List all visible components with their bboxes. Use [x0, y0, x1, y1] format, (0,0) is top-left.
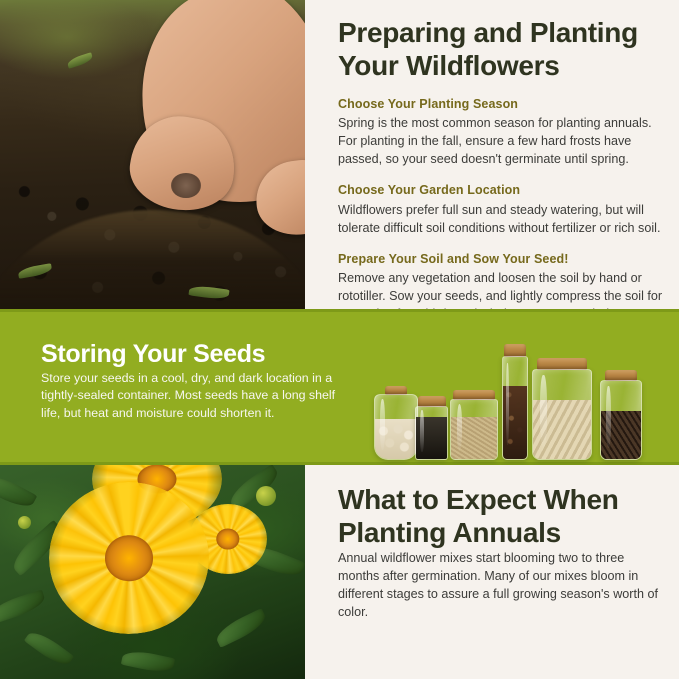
seed-jar [532, 358, 592, 458]
yellow-flower-photo [0, 465, 305, 679]
body-garden-location: Wildflowers prefer full sun and steady w… [338, 201, 664, 237]
storing-text-column: Storing Your Seeds Store your seeds in a… [41, 340, 341, 423]
seed-jars-photo [372, 322, 667, 458]
preparing-title: Preparing and Planting Your Wildflowers [338, 16, 664, 82]
preparing-text-column: Preparing and Planting Your Wildflowers … [338, 0, 664, 309]
jar-highlight [420, 410, 424, 452]
subtitle-planting-season: Choose Your Planting Season [338, 96, 664, 112]
jar-highlight [506, 363, 509, 445]
subtitle-prepare-soil: Prepare Your Soil and Sow Your Seed! [338, 251, 664, 267]
expect-title: What to Expect When Planting Annuals [338, 483, 664, 549]
jar-highlight [606, 386, 611, 448]
flower-bloom-main [49, 482, 209, 634]
jar-body [600, 380, 642, 460]
section-expect: What to Expect When Planting Annuals Ann… [0, 465, 679, 679]
jar-body [532, 369, 592, 460]
expect-body: Annual wildflower mixes start blooming t… [338, 549, 664, 621]
preparing-title-wrap: Preparing and Planting Your Wildflowers [338, 0, 664, 82]
jar-highlight [540, 375, 548, 446]
block-planting-season: Choose Your Planting Season Spring is th… [338, 96, 664, 168]
section-preparing: Preparing and Planting Your Wildflowers … [0, 0, 679, 309]
seed-jar [374, 386, 418, 458]
wildflower-planting-infographic: Preparing and Planting Your Wildflowers … [0, 0, 679, 679]
storing-title: Storing Your Seeds [41, 340, 341, 370]
block-garden-location: Choose Your Garden Location Wildflowers … [338, 182, 664, 236]
section-storing: Storing Your Seeds Store your seeds in a… [0, 309, 679, 465]
jar-body [450, 399, 498, 460]
seeds-in-hand-graphic [171, 173, 202, 198]
jar-body [502, 356, 528, 460]
seed-jar [450, 390, 498, 458]
flower-center [105, 535, 153, 581]
expect-text-column: What to Expect When Planting Annuals Ann… [338, 465, 664, 679]
hands-planting-seeds-photo [0, 0, 305, 309]
expect-title-wrap: What to Expect When Planting Annuals [338, 465, 664, 549]
body-planting-season: Spring is the most common season for pla… [338, 114, 664, 168]
jar-body [415, 406, 448, 460]
seed-jar [415, 396, 448, 458]
jar-body [374, 394, 418, 460]
seed-jar [502, 344, 528, 458]
storing-body: Store your seeds in a cool, dry, and dar… [41, 370, 341, 424]
subtitle-garden-location: Choose Your Garden Location [338, 182, 664, 198]
seed-jar [600, 370, 642, 458]
